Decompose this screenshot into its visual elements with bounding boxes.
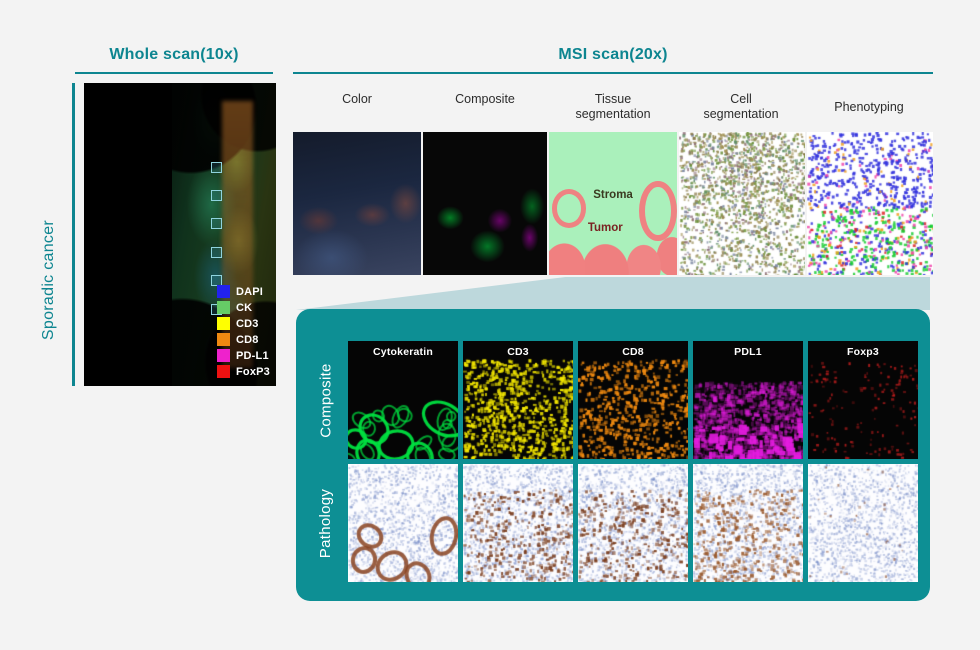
detail-row-label-composite: Composite [308, 341, 344, 459]
composite-cell-foxp3[interactable]: Foxp3 [808, 341, 918, 459]
msi-column-label-cell-segmentation: Cell segmentation [677, 92, 805, 122]
msi-column-labels: Color Composite Tissue segmentation Cell… [293, 92, 933, 128]
roi-box [211, 218, 222, 229]
msi-scan-title-rule [293, 72, 933, 74]
pathology-cell-pdl1[interactable] [693, 464, 803, 582]
msi-panel-phenotyping[interactable] [807, 132, 933, 275]
legend-swatch-foxp3 [217, 365, 230, 378]
detail-row-label-pathology: Pathology [308, 464, 344, 582]
msi-column-label-composite: Composite [421, 92, 549, 107]
pathology-canvas [463, 464, 573, 582]
legend-item: CK [217, 301, 270, 314]
legend-label-dapi: DAPI [236, 286, 263, 298]
msi-column-label-cell-line1: Cell [677, 92, 805, 107]
whole-scan-title: Whole scan(10x) [72, 46, 276, 64]
pathology-cell-foxp3[interactable] [808, 464, 918, 582]
composite-canvas [348, 341, 458, 459]
composite-canvas [808, 341, 918, 459]
composite-cell-cytokeratin[interactable]: Cytokeratin [348, 341, 458, 459]
marker-title-cd8: CD8 [578, 346, 688, 358]
composite-cell-cd8[interactable]: CD8 [578, 341, 688, 459]
legend-item: PD-L1 [217, 349, 270, 362]
msi-column-label-cell-line2: segmentation [677, 107, 805, 122]
legend-item: FoxP3 [217, 365, 270, 378]
msi-column-label-tissue-segmentation: Tissue segmentation [549, 92, 677, 122]
msi-panel-color[interactable] [293, 132, 421, 275]
roi-box [211, 190, 222, 201]
roi-box [211, 247, 222, 258]
msi-column-label-tissue-line2: segmentation [549, 107, 677, 122]
pathology-cell-cd8[interactable] [578, 464, 688, 582]
whole-scan-accent-bar [72, 83, 75, 386]
legend-swatch-cd8 [217, 333, 230, 346]
pathology-marker-row [348, 464, 918, 582]
legend-item: CD3 [217, 317, 270, 330]
msi-panel-tissue-segmentation[interactable]: Stroma Tumor [549, 132, 677, 275]
figure-canvas: Sporadic cancer Whole scan(10x) DAPI [0, 0, 980, 650]
marker-title-cytokeratin: Cytokeratin [348, 346, 458, 358]
composite-marker-row: Cytokeratin CD3 CD8 PDL1 Foxp3 [348, 341, 918, 459]
tumor-gland-ring [552, 189, 586, 228]
pathology-cell-cd3[interactable] [463, 464, 573, 582]
composite-cell-cd3[interactable]: CD3 [463, 341, 573, 459]
marker-title-foxp3: Foxp3 [808, 346, 918, 358]
detail-row-label-pathology-text: Pathology [318, 488, 335, 557]
marker-title-cd3: CD3 [463, 346, 573, 358]
pathology-canvas [693, 464, 803, 582]
tumor-label: Tumor [588, 222, 623, 234]
legend-label-cd8: CD8 [236, 334, 259, 346]
marker-legend: DAPI CK CD3 CD8 PD-L1 [217, 285, 270, 378]
msi-panel-row: Stroma Tumor [293, 132, 933, 275]
legend-label-foxp3: FoxP3 [236, 366, 270, 378]
composite-canvas [693, 341, 803, 459]
legend-label-pdl1: PD-L1 [236, 350, 269, 362]
legend-swatch-pdl1 [217, 349, 230, 362]
pathology-cell-cytokeratin[interactable] [348, 464, 458, 582]
composite-canvas [578, 341, 688, 459]
legend-item: CD8 [217, 333, 270, 346]
msi-panel-composite[interactable] [423, 132, 547, 275]
legend-item: DAPI [217, 285, 270, 298]
pathology-canvas [578, 464, 688, 582]
detail-row-label-composite-text: Composite [318, 363, 335, 437]
tumor-gland-ring [639, 181, 677, 242]
condition-row-label-text: Sporadic cancer [40, 220, 58, 340]
legend-label-ck: CK [236, 302, 252, 314]
composite-cell-pdl1[interactable]: PDL1 [693, 341, 803, 459]
legend-swatch-ck [217, 301, 230, 314]
whole-scan-title-rule [75, 72, 273, 74]
roi-box [211, 162, 222, 173]
marker-detail-box: Composite Pathology Cytokeratin CD3 CD8 … [296, 309, 930, 601]
msi-panel-cell-segmentation[interactable] [679, 132, 805, 275]
cell-segmentation-canvas [679, 132, 805, 275]
marker-title-pdl1: PDL1 [693, 346, 803, 358]
legend-swatch-cd3 [217, 317, 230, 330]
whole-scan-image: DAPI CK CD3 CD8 PD-L1 [84, 83, 276, 386]
pathology-canvas [348, 464, 458, 582]
condition-row-label: Sporadic cancer [34, 150, 64, 410]
legend-label-cd3: CD3 [236, 318, 259, 330]
zoom-connector-wedge [296, 277, 930, 310]
msi-column-label-phenotyping: Phenotyping [805, 100, 933, 115]
msi-scan-title: MSI scan(20x) [293, 46, 933, 64]
legend-swatch-dapi [217, 285, 230, 298]
stroma-label: Stroma [593, 189, 633, 201]
pathology-canvas [808, 464, 918, 582]
whole-scan-block: DAPI CK CD3 CD8 PD-L1 [72, 83, 276, 386]
composite-canvas [463, 341, 573, 459]
msi-column-label-tissue-line1: Tissue [549, 92, 677, 107]
phenotyping-canvas [807, 132, 933, 275]
msi-column-label-color: Color [293, 92, 421, 107]
